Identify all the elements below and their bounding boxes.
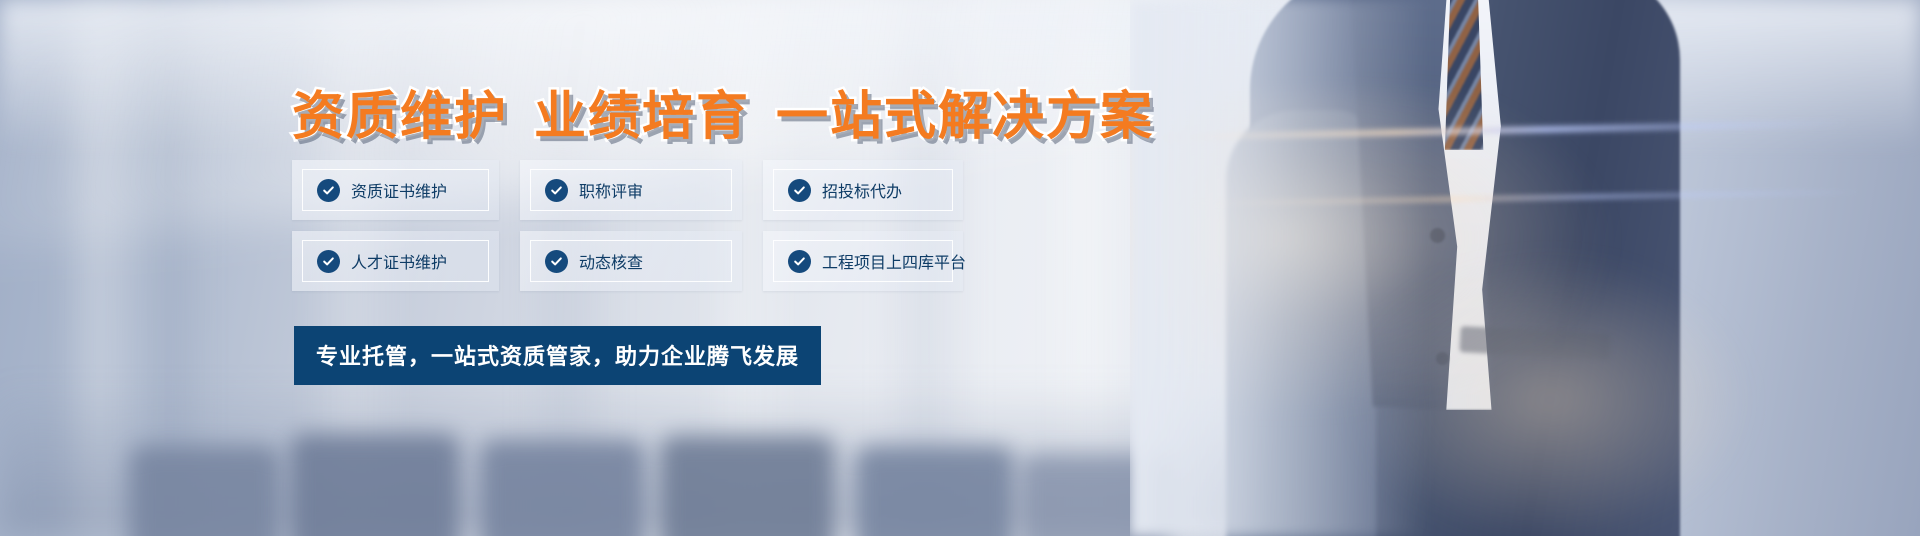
headline-part-2: 业绩培育 bbox=[534, 87, 750, 147]
check-circle-icon bbox=[788, 250, 811, 273]
banner-content: 资质维护业绩培育一站式解决方案 资质证书维护 职称评审 招投标代办 bbox=[0, 0, 1920, 536]
headline-part-3: 一站式解决方案 bbox=[776, 87, 1154, 147]
hero-banner: 资质维护业绩培育一站式解决方案 资质证书维护 职称评审 招投标代办 bbox=[0, 0, 1920, 536]
feature-card-label: 资质证书维护 bbox=[351, 178, 447, 202]
check-circle-icon bbox=[788, 179, 811, 202]
check-circle-icon bbox=[545, 250, 568, 273]
banner-headline: 资质维护业绩培育一站式解决方案 bbox=[292, 74, 1154, 149]
feature-card-dynamic-inspection[interactable]: 动态核查 bbox=[520, 231, 742, 291]
feature-card-grid: 资质证书维护 职称评审 招投标代办 人才证书维护 bbox=[292, 160, 963, 291]
check-circle-icon bbox=[317, 179, 340, 202]
feature-card-label: 招投标代办 bbox=[822, 178, 902, 202]
check-circle-icon bbox=[545, 179, 568, 202]
feature-card-title-review[interactable]: 职称评审 bbox=[520, 160, 742, 220]
feature-card-qualification-certificate[interactable]: 资质证书维护 bbox=[292, 160, 499, 220]
feature-card-label: 职称评审 bbox=[579, 178, 643, 202]
feature-card-label: 人才证书维护 bbox=[351, 249, 447, 273]
check-circle-icon bbox=[317, 250, 340, 273]
feature-card-label: 动态核查 bbox=[579, 249, 643, 273]
feature-card-label: 工程项目上四库平台 bbox=[822, 249, 966, 273]
headline-part-1: 资质维护 bbox=[292, 87, 508, 147]
feature-card-talent-certificate[interactable]: 人才证书维护 bbox=[292, 231, 499, 291]
feature-card-four-database-platform[interactable]: 工程项目上四库平台 bbox=[763, 231, 963, 291]
feature-card-bidding-agency[interactable]: 招投标代办 bbox=[763, 160, 963, 220]
banner-tagline: 专业托管，一站式资质管家，助力企业腾飞发展 bbox=[294, 326, 821, 385]
